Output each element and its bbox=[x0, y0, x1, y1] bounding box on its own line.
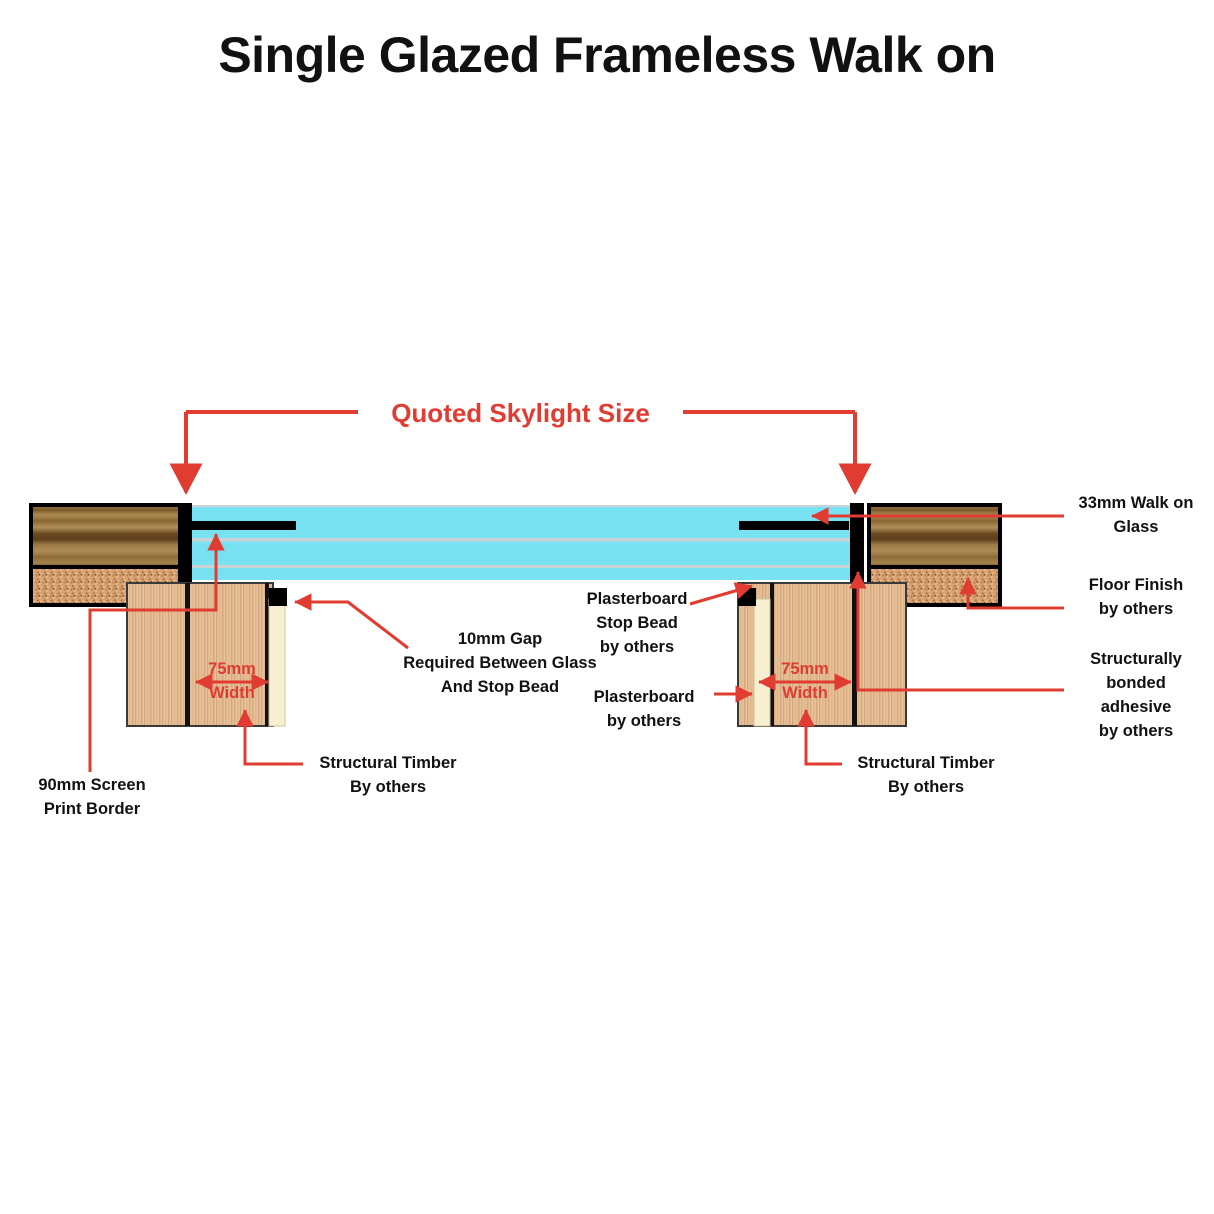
walk-on-glass-panel bbox=[180, 505, 862, 580]
quoted-skylight-size-label: Quoted Skylight Size bbox=[358, 398, 683, 429]
label-structural-timber-left: Structural Timber By others bbox=[300, 752, 476, 800]
label-walk-on-glass: 33mm Walk on Glass bbox=[1062, 492, 1210, 540]
label-floor-finish: Floor Finish by others bbox=[1062, 574, 1210, 622]
dimension-75mm-width-right: 75mm Width bbox=[765, 658, 845, 706]
diagram-canvas: Single Glazed Frameless Walk on bbox=[0, 0, 1214, 1214]
label-structural-timber-right: Structural Timber By others bbox=[838, 752, 1014, 800]
dimension-75mm-width-left: 75mm Width bbox=[192, 658, 272, 706]
label-plasterboard: Plasterboard by others bbox=[570, 686, 718, 734]
label-structurally-bonded-adhesive: Structurally bonded adhesive by others bbox=[1062, 648, 1210, 744]
label-90mm-screen-print-border: 90mm Screen Print Border bbox=[18, 774, 166, 822]
label-plasterboard-stop-bead: Plasterboard Stop Bead by others bbox=[558, 588, 716, 660]
